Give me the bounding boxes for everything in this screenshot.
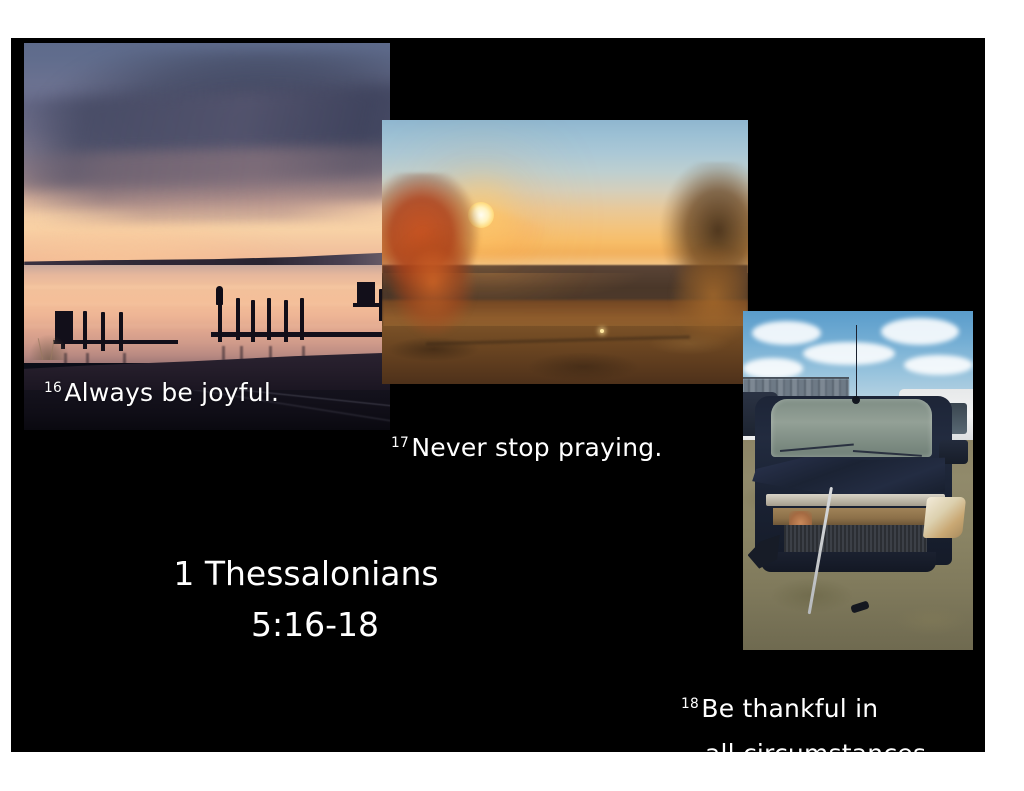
- lake-dock-reflection: [240, 346, 243, 360]
- scripture-reference: 1 Thessalonians 5:16-18: [141, 548, 471, 650]
- car-headlight: [923, 497, 966, 538]
- lake-dock-far-post: [357, 282, 375, 307]
- verse-16-text: Always be joyful.: [64, 378, 279, 407]
- hill-tree-right-lower: [645, 241, 748, 371]
- hillside-sunset-photo: [382, 120, 748, 384]
- lake-dock-piling: [236, 298, 240, 340]
- hill-light-speck: [600, 329, 604, 333]
- verse-18-text-line-1: Be thankful in: [701, 694, 878, 723]
- lake-dock-piling: [101, 312, 105, 351]
- verse-17-caption: 17Never stop praying.: [391, 433, 662, 462]
- lake-dock-reflection: [86, 353, 89, 367]
- lake-shore-grass: [28, 334, 70, 360]
- slide-canvas: 16Always be joyful. 17Never stop praying…: [0, 0, 1024, 791]
- car-antenna: [856, 325, 858, 400]
- lake-dock-piling: [83, 311, 87, 350]
- verse-18-text-line-2: all circumstances: [681, 731, 926, 752]
- reference-book: 1 Thessalonians: [173, 554, 438, 593]
- lake-dock-piling: [284, 300, 288, 342]
- lake-dock-reflection: [222, 346, 225, 360]
- car-radiator-core: [784, 525, 927, 552]
- lake-water-streak: [24, 303, 390, 305]
- lake-person-silhouette: [216, 286, 223, 305]
- car-cloud: [803, 342, 895, 366]
- lake-sunset-dock-photo: [24, 43, 390, 395]
- lake-water-streak: [24, 325, 390, 327]
- verse-18-caption: 18Be thankful in all circumstances: [681, 686, 926, 752]
- lake-dock-piling: [218, 300, 222, 342]
- verse-18-number: 18: [681, 696, 699, 712]
- verse-16-number: 16: [44, 380, 62, 396]
- lake-dock-piling: [251, 300, 255, 342]
- verse-17-number: 17: [391, 435, 409, 451]
- lake-dock-piling: [267, 298, 271, 340]
- presentation-slide: 16Always be joyful. 17Never stop praying…: [11, 38, 985, 752]
- car-cloud: [752, 321, 821, 345]
- car-chrome-grille-bar: [766, 494, 945, 506]
- lake-water: [24, 265, 390, 364]
- reference-verses: 5:16-18: [141, 599, 471, 650]
- verse-16-caption: 16Always be joyful.: [44, 378, 279, 407]
- verse-18-line-1: 18Be thankful in: [681, 694, 878, 723]
- wrecked-suv-photo: [743, 311, 973, 650]
- car-cloud: [881, 318, 959, 345]
- verse-17-text: Never stop praying.: [411, 433, 662, 462]
- lake-dock-piling: [300, 298, 304, 340]
- car-lower-bumper: [761, 552, 936, 572]
- lake-water-streak: [24, 286, 390, 288]
- lake-dock-piling: [119, 312, 123, 351]
- car-cloud: [743, 358, 803, 378]
